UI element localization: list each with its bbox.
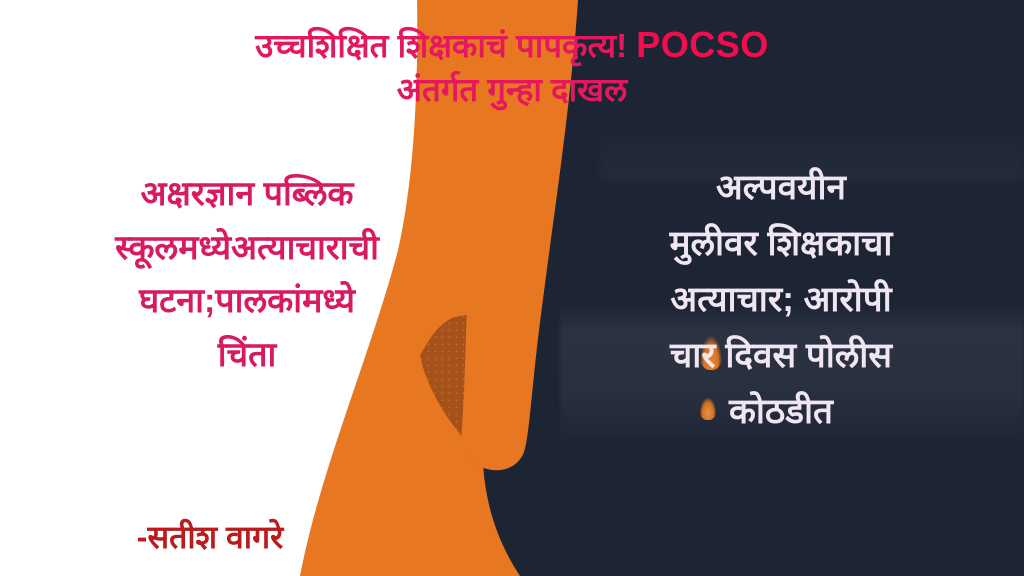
news-graphic-canvas: उच्चशिक्षित शिक्षकाचं पापकृत्य! POCSO अं… <box>0 0 1024 576</box>
headline-acronym-pocso: POCSO <box>636 24 769 65</box>
right-text-line: मुलीवर शिक्षकाचा <box>538 216 1024 272</box>
right-text-line: चार दिवस पोलीस <box>538 328 1024 384</box>
left-text-line: चिंता <box>0 329 500 383</box>
right-text-line: अत्याचार; आरोपी <box>538 272 1024 328</box>
left-text-line: अक्षरज्ञान पब्लिक <box>0 168 500 222</box>
right-text-line: अल्पवयीन <box>538 160 1024 216</box>
right-text-block: अल्पवयीन मुलीवर शिक्षकाचा अत्याचार; आरोप… <box>538 160 1024 440</box>
left-text-block: अक्षरज्ञान पब्लिक स्कूलमध्येअत्याचाराची … <box>0 168 500 383</box>
left-text-line: स्कूलमध्येअत्याचाराची <box>0 222 500 276</box>
headline-line2-text: अंतर्गत गुन्हा दाखल <box>397 71 627 108</box>
reporter-byline: -सतीश वागरे <box>0 520 420 555</box>
headline-line1-text: उच्चशिक्षित शिक्षकाचं पापकृत्य! <box>255 27 627 64</box>
left-text-line: घटना;पालकांमध्ये <box>0 275 500 329</box>
headline: उच्चशिक्षित शिक्षकाचं पापकृत्य! POCSO अं… <box>40 22 984 112</box>
right-text-line: कोठडीत <box>538 384 1024 440</box>
